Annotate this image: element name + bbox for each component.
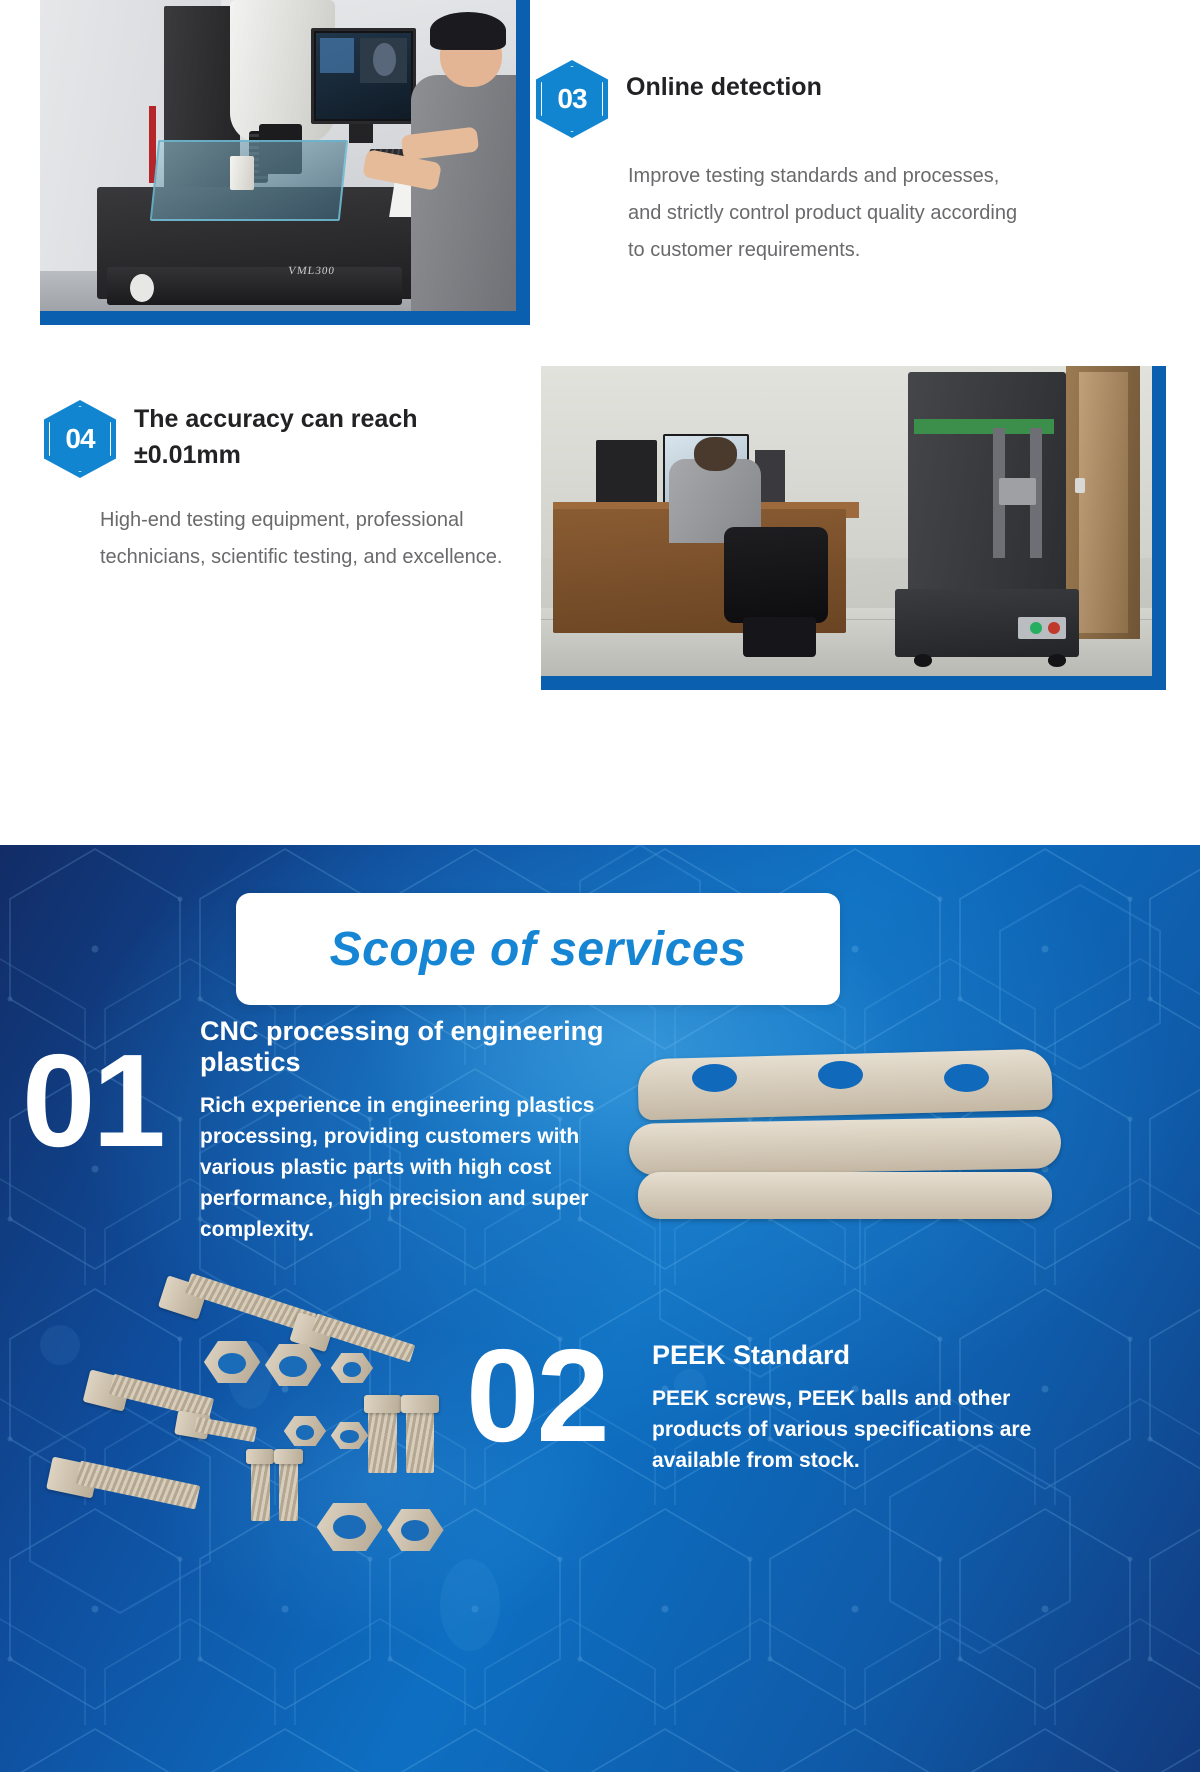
promo-page: VML300 03 Online detection Improve testi… <box>0 0 1200 1772</box>
scope-banner-card: Scope of services <box>236 893 840 1005</box>
service-02-title: PEEK Standard <box>652 1340 1052 1371</box>
scope-banner-title: Scope of services <box>330 922 747 977</box>
product-image-peek-curved-parts <box>620 1040 1070 1275</box>
feature-04-body: High-end testing equipment, professional… <box>100 502 530 576</box>
feature-03-number: 03 <box>536 60 608 138</box>
hexagon-badge-icon: 04 <box>44 400 116 478</box>
service-block-02: PEEK Standard PEEK screws, PEEK balls an… <box>652 1340 1052 1476</box>
feature-block-03: 03 Online detection Improve testing stan… <box>536 60 1056 269</box>
feature-04-number: 04 <box>44 400 116 478</box>
product-image-peek-screws <box>30 1275 500 1575</box>
photo-image-measuring-machine: VML300 <box>40 0 516 311</box>
service-block-01: CNC processing of engineering plastics R… <box>200 1016 630 1245</box>
feature-03-title: Online detection <box>626 60 822 106</box>
features-section: VML300 03 Online detection Improve testi… <box>0 0 1200 845</box>
accuracy-testing-photo <box>541 366 1166 690</box>
hexagon-badge-icon: 03 <box>536 60 608 138</box>
photo-image-tensile-tester <box>541 366 1152 676</box>
feature-03-body: Improve testing standards and processes,… <box>628 158 1028 269</box>
online-detection-photo: VML300 <box>40 0 530 325</box>
feature-04-title: The accuracy can reach ±0.01mm <box>134 400 484 473</box>
service-02-number: 02 <box>466 1330 607 1462</box>
feature-block-04: 04 The accuracy can reach ±0.01mm High-e… <box>44 400 544 576</box>
service-01-body: Rich experience in engineering plastics … <box>200 1090 630 1245</box>
service-01-number: 01 <box>22 1035 163 1167</box>
feature-03-header: 03 Online detection <box>536 60 1056 138</box>
machine-model-label: VML300 <box>287 265 336 277</box>
feature-04-header: 04 The accuracy can reach ±0.01mm <box>44 400 544 478</box>
service-02-body: PEEK screws, PEEK balls and other produc… <box>652 1383 1052 1476</box>
service-01-title: CNC processing of engineering plastics <box>200 1016 630 1078</box>
